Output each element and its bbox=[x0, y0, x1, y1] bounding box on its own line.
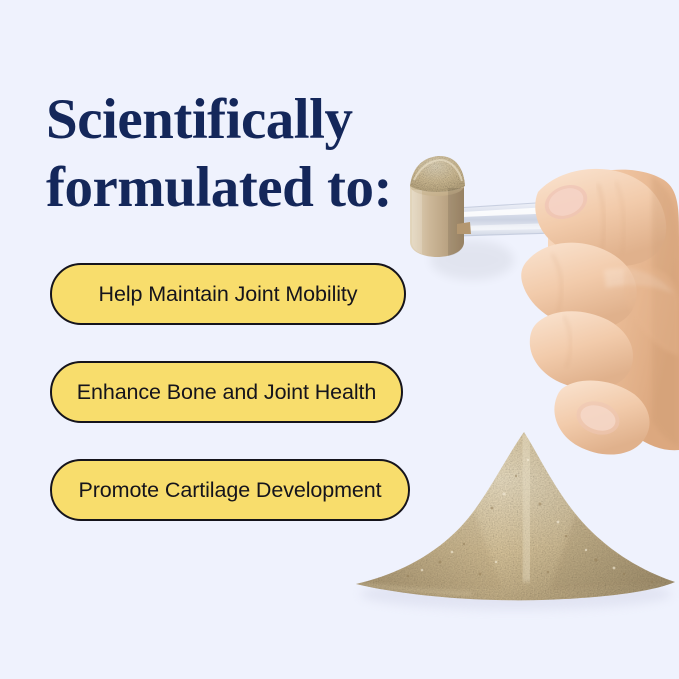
page-title: Scientifically formulated to: bbox=[46, 86, 476, 222]
benefit-pill-label: Promote Cartilage Development bbox=[78, 478, 381, 503]
hand-holding-scoop-icon bbox=[521, 169, 679, 455]
benefit-pill-joint-mobility[interactable]: Help Maintain Joint Mobility bbox=[50, 263, 406, 325]
infographic-canvas: Scientifically formulated to: Help Maint… bbox=[0, 0, 679, 679]
benefit-pill-bone-joint-health[interactable]: Enhance Bone and Joint Health bbox=[50, 361, 403, 423]
benefit-pill-cartilage-development[interactable]: Promote Cartilage Development bbox=[50, 459, 410, 521]
benefit-pill-label: Help Maintain Joint Mobility bbox=[99, 282, 358, 307]
benefit-pill-label: Enhance Bone and Joint Health bbox=[77, 380, 377, 405]
benefits-list: Help Maintain Joint Mobility Enhance Bon… bbox=[50, 263, 410, 521]
